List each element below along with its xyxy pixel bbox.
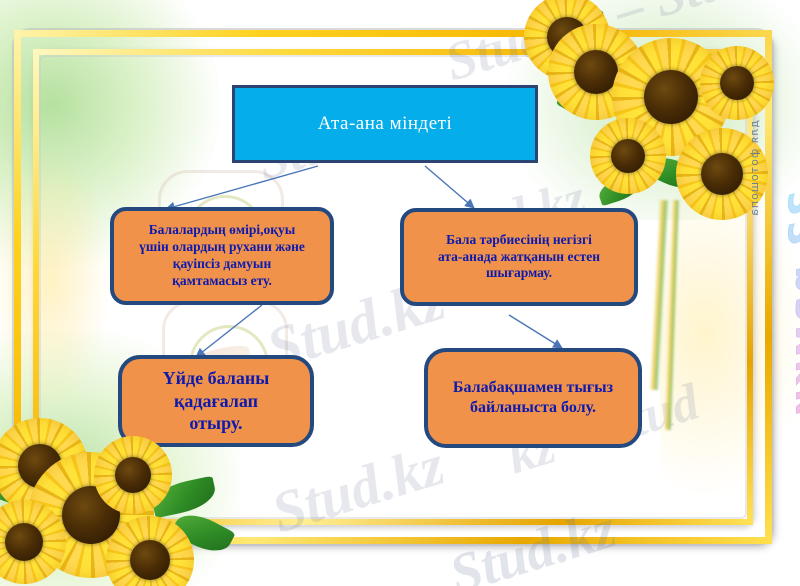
sunflower	[676, 128, 768, 220]
sunflower-core	[720, 66, 754, 100]
gold-glow-left	[0, 150, 110, 410]
sunflower	[590, 118, 666, 194]
diagram-node-right-2-label: Балабақшамен тығыз байланыста болу.	[445, 376, 621, 420]
sunflower-core	[130, 540, 170, 580]
arrow-title-to-left	[166, 166, 318, 209]
diagram-node-left-2-label: Үйде баланы қадағалап отыру.	[155, 365, 278, 437]
diagram-node-right-1[interactable]: Бала тәрбиесінің негізгі ата-анада жатқа…	[400, 208, 638, 306]
diagram-node-left-2[interactable]: Үйде баланы қадағалап отыру.	[118, 355, 314, 447]
sunflower	[700, 46, 774, 120]
sunflower-core	[644, 70, 698, 124]
diagram-node-right-2[interactable]: Балабақшамен тығыз байланыста болу.	[424, 348, 642, 448]
sunflower-core	[701, 153, 743, 195]
diagram-node-left-1[interactable]: Балалардың өмірі,оқуы үшін олардың рухан…	[110, 207, 334, 305]
sunflower-core	[574, 50, 618, 94]
arrow-title-to-right	[425, 166, 474, 208]
diagram-node-left-1-label: Балалардың өмірі,оқуы үшін олардың рухан…	[131, 220, 313, 292]
gold-glow-right	[660, 170, 800, 500]
brand-title: 33 рамки	[782, 188, 800, 417]
diagram-title-label: Ата-ана міндеті	[310, 110, 461, 138]
arrow-right-to-bottom-right	[509, 315, 562, 348]
watermark-text: Stud.kz	[264, 431, 452, 546]
slide-canvas: Stud.kz Stud.kz Stud.kz Stud.kz – Stud k…	[0, 0, 800, 586]
arrow-left-to-bottom-left	[196, 305, 262, 357]
sunflower-core	[115, 457, 151, 493]
diagram-node-right-1-label: Бала тәрбиесінің негізгі ата-анада жатқа…	[430, 230, 608, 285]
diagram-title-node[interactable]: Ата-ана міндеті	[232, 85, 538, 163]
sunflower	[94, 436, 172, 514]
watermark-text: Stud.kz	[442, 497, 623, 586]
